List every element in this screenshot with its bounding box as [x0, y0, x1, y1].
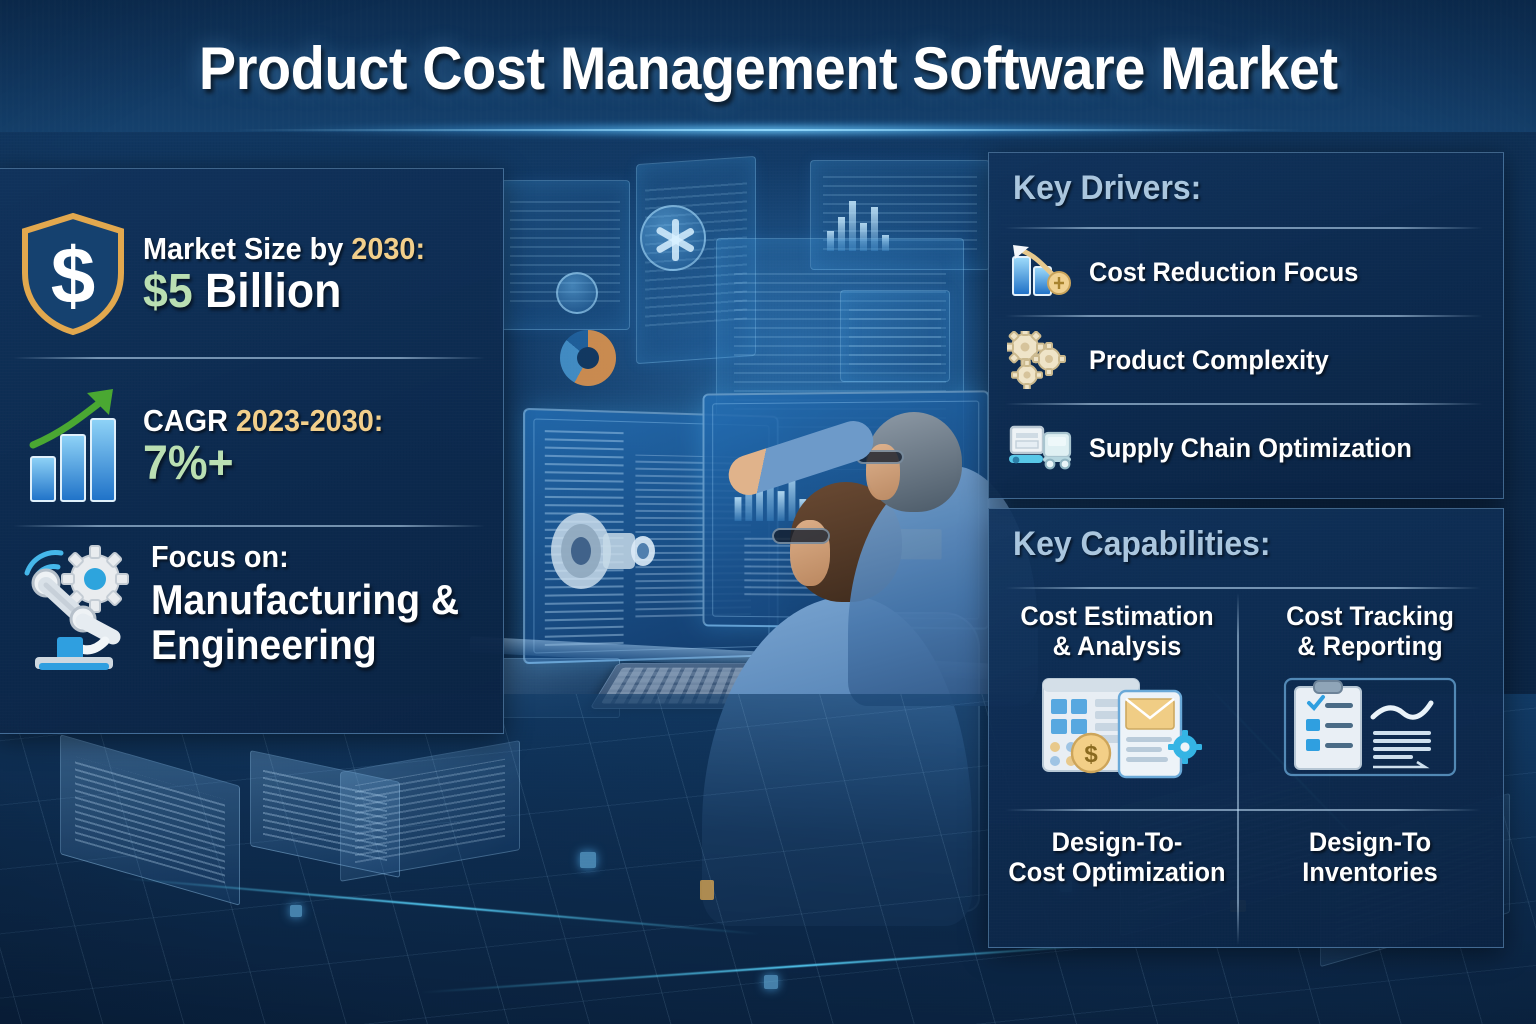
- driver-label-cost-reduction: Cost Reduction Focus: [1089, 257, 1358, 288]
- driver-label-supply-chain: Supply Chain Optimization: [1089, 433, 1412, 464]
- capabilities-divider-vertical: [1237, 593, 1239, 945]
- title-underline: [230, 129, 1305, 131]
- stat-focus-label: Focus on:: [151, 541, 459, 572]
- stats-divider-1: [13, 357, 485, 359]
- holo-asterisk-icon: [640, 205, 706, 271]
- stat-cagr-period: 2023-2030:: [236, 403, 383, 438]
- declining-bar-chart-coin-icon: [1007, 243, 1073, 301]
- impeller-render: [545, 505, 665, 597]
- capabilities-divider-top: [1005, 587, 1481, 589]
- holo-globe-icon: [556, 272, 598, 314]
- stat-focus-line-1: Manufacturing &: [151, 578, 459, 623]
- stat-cagr-value: 7%+: [143, 440, 383, 488]
- holo-donut-chart: [560, 330, 616, 386]
- capability-cost-estimation[interactable]: Cost Estimation & Analysis: [1001, 601, 1233, 783]
- key-drivers-panel: Key Drivers: Cost Reduction Focus: [988, 152, 1504, 499]
- dollar-shield-icon: $: [17, 211, 129, 337]
- driver-label-product-complexity: Product Complexity: [1089, 345, 1329, 376]
- key-drivers-heading: Key Drivers:: [1013, 169, 1201, 208]
- capability-title-design-to-inventories: Design-To Inventories: [1254, 827, 1485, 887]
- drivers-divider-1: [1005, 227, 1483, 229]
- glasses-foreground: [772, 528, 830, 544]
- stat-focus-value: Manufacturing & Engineering: [151, 578, 459, 667]
- svg-text:$: $: [51, 231, 96, 320]
- stat-focus-line-2: Engineering: [151, 623, 459, 668]
- warehouse-truck-icon: [1007, 419, 1073, 477]
- growth-bar-chart-icon: [17, 383, 129, 509]
- capabilities-divider-mid: [1005, 809, 1481, 811]
- stat-cagr: CAGR 2023-2030: 7%+: [17, 383, 487, 509]
- capability-title-design-to-cost: Design-To- Cost Optimization: [1004, 827, 1230, 887]
- stat-cagr-label: CAGR 2023-2030:: [143, 405, 383, 436]
- drivers-divider-2: [1005, 315, 1483, 317]
- driver-item-product-complexity[interactable]: Product Complexity: [1007, 323, 1489, 397]
- market-statistics-panel: $ Market Size by 2030: $5 Billion: [0, 168, 504, 734]
- svg-text:$: $: [1084, 741, 1098, 768]
- stat-focus: Focus on: Manufacturing & Engineering: [17, 541, 487, 673]
- page-title: Product Cost Management Software Market: [0, 16, 1536, 120]
- stat-market-size-label: Market Size by 2030:: [143, 233, 425, 264]
- capability-title-cost-tracking: Cost Tracking & Reporting: [1254, 601, 1485, 661]
- capability-title-cost-estimation: Cost Estimation & Analysis: [1008, 601, 1226, 661]
- capability-cost-tracking[interactable]: Cost Tracking & Reporting: [1247, 601, 1493, 781]
- clipboard-report-chart-icon: [1247, 673, 1493, 781]
- stat-market-size: $ Market Size by 2030: $5 Billion: [17, 211, 487, 337]
- holo-sub-chart: [840, 290, 950, 382]
- capability-design-to-cost[interactable]: Design-To- Cost Optimization: [997, 827, 1237, 887]
- key-capabilities-panel: Key Capabilities: Cost Estimation & Anal…: [988, 508, 1504, 948]
- gears-icon: [1007, 331, 1073, 389]
- stats-divider-2: [13, 525, 485, 527]
- cost-estimation-dashboard-icon: $: [1001, 673, 1233, 783]
- page-title-text: Product Cost Management Software Market: [199, 34, 1338, 103]
- capability-design-to-inventories[interactable]: Design-To Inventories: [1247, 827, 1493, 887]
- stat-market-size-value: $5 Billion: [143, 268, 425, 316]
- driver-item-cost-reduction[interactable]: Cost Reduction Focus: [1007, 235, 1489, 309]
- drivers-divider-3: [1005, 403, 1483, 405]
- stat-market-size-year: 2030:: [351, 231, 425, 266]
- robot-arm-gear-icon: [17, 545, 137, 673]
- key-capabilities-heading: Key Capabilities:: [1013, 525, 1271, 564]
- driver-item-supply-chain[interactable]: Supply Chain Optimization: [1007, 411, 1489, 485]
